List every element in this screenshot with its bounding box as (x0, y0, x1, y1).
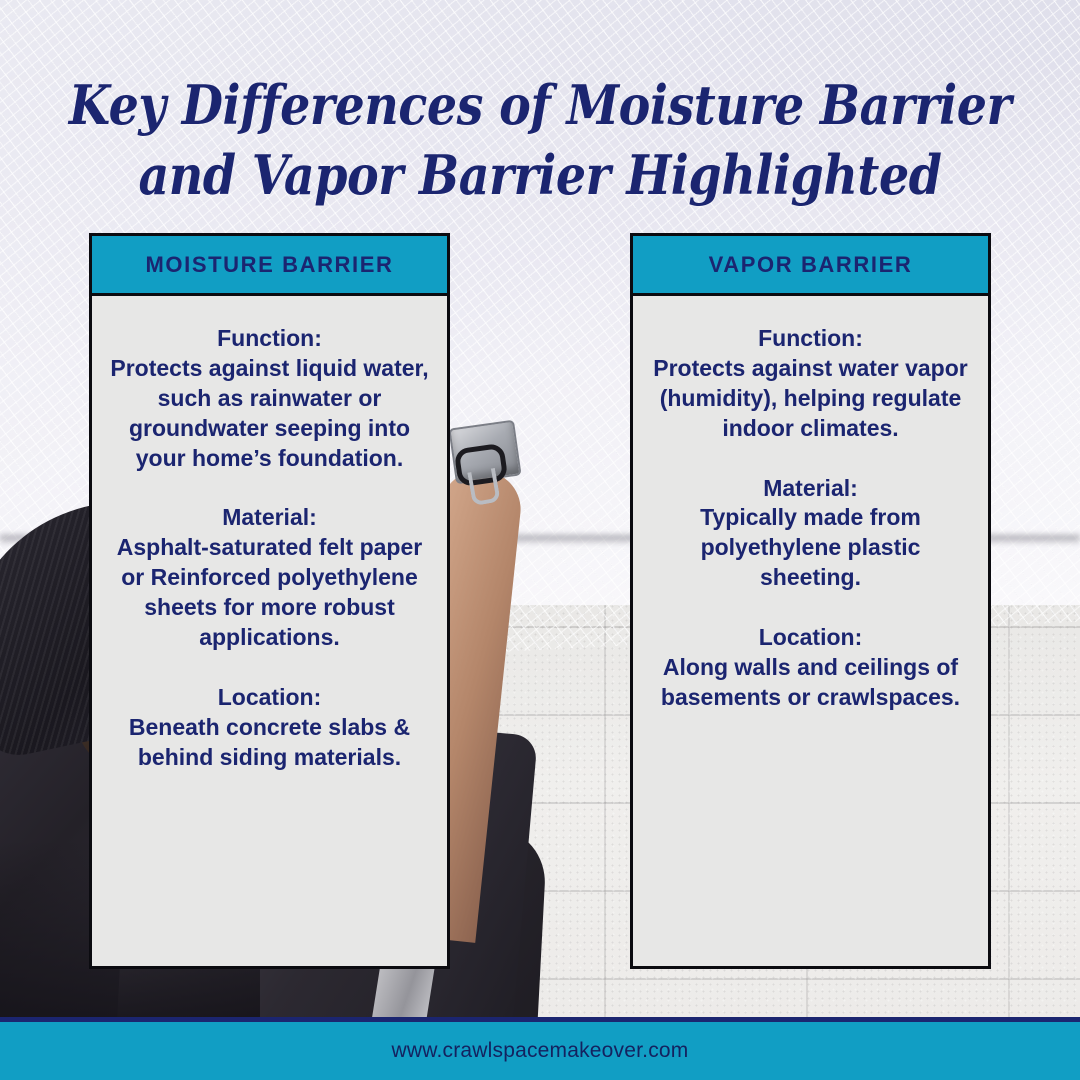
section-label: Function: (110, 324, 429, 354)
comparison-panel-moisture-barrier: MOISTURE BARRIER Function: Protects agai… (89, 233, 450, 969)
section-text: Protects against water vapor (humidity),… (651, 354, 970, 444)
section-text: Asphalt-saturated felt paper or Reinforc… (110, 533, 429, 653)
title-line-1: Key Differences of Moisture Barrier (65, 70, 1015, 140)
page-title: Key Differences of Moisture Barrier and … (65, 70, 1015, 210)
section-label: Location: (651, 623, 970, 653)
section-label: Material: (651, 474, 970, 504)
section-function: Function: Protects against liquid water,… (110, 324, 429, 473)
footer-bar: www.crawlspacemakeover.com (0, 1022, 1080, 1080)
section-location: Location: Beneath concrete slabs & behin… (110, 683, 429, 773)
panel-heading-vapor-barrier: VAPOR BARRIER (630, 233, 991, 296)
section-text: Typically made from polyethylene plastic… (651, 503, 970, 593)
section-text: Beneath concrete slabs & behind siding m… (110, 713, 429, 773)
section-label: Material: (110, 503, 429, 533)
comparison-panel-vapor-barrier: VAPOR BARRIER Function: Protects against… (630, 233, 991, 969)
section-location: Location: Along walls and ceilings of ba… (651, 623, 970, 713)
section-function: Function: Protects against water vapor (… (651, 324, 970, 444)
infographic-canvas: Key Differences of Moisture Barrier and … (0, 0, 1080, 1080)
website-url[interactable]: www.crawlspacemakeover.com (392, 1039, 689, 1063)
section-text: Protects against liquid water, such as r… (110, 354, 429, 474)
section-label: Location: (110, 683, 429, 713)
panel-body-moisture-barrier: Function: Protects against liquid water,… (89, 296, 450, 969)
title-line-2: and Vapor Barrier Highlighted (65, 140, 1015, 210)
section-text: Along walls and ceilings of basements or… (651, 653, 970, 713)
section-label: Function: (651, 324, 970, 354)
panel-heading-moisture-barrier: MOISTURE BARRIER (89, 233, 450, 296)
section-material: Material: Asphalt-saturated felt paper o… (110, 503, 429, 652)
panel-body-vapor-barrier: Function: Protects against water vapor (… (630, 296, 991, 969)
section-material: Material: Typically made from polyethyle… (651, 474, 970, 594)
staple-gun-nose (467, 468, 500, 506)
